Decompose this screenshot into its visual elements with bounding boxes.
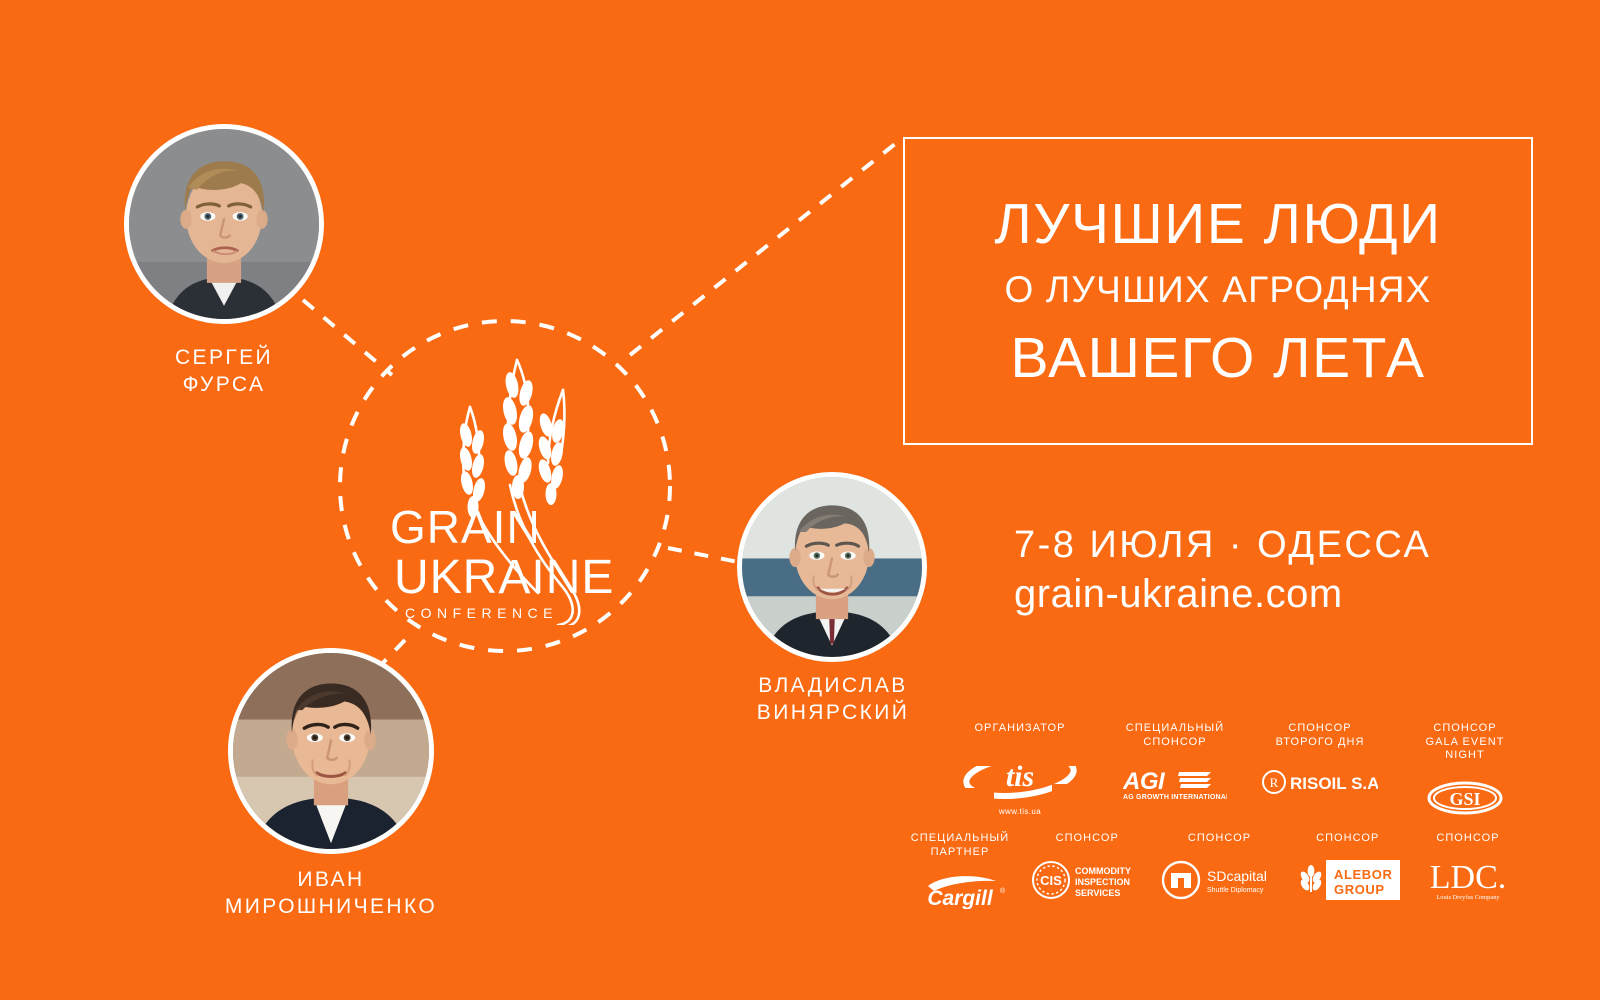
cis-logo: CIS COMMODITY INSPECTION SERVICES — [1031, 860, 1143, 900]
svg-text:AG GROWTH INTERNATIONAL: AG GROWTH INTERNATIONAL — [1123, 794, 1227, 801]
svg-text:CIS: CIS — [1040, 873, 1062, 888]
svg-text:AGI: AGI — [1123, 768, 1166, 795]
svg-text:R: R — [1270, 775, 1279, 790]
svg-text:RISOIL S.A.: RISOIL S.A. — [1290, 774, 1378, 793]
speaker-name-sergey: СЕРГЕЙ ФУРСА — [94, 344, 354, 398]
svg-text:Cargill: Cargill — [927, 887, 994, 909]
logo-line1: GRAIN — [390, 501, 541, 553]
event-date-place: 7-8 ИЮЛЯ · ОДЕССА — [1014, 522, 1431, 568]
sponsor-sdcapital: СПОНСОР SDcapital Shuttle Diplomacy — [1160, 832, 1280, 900]
headline-box: ЛУЧШИЕ ЛЮДИ О ЛУЧШИХ АГРОДНЯХ ВАШЕГО ЛЕТ… — [903, 137, 1533, 445]
speaker-photo-ivan — [228, 648, 434, 854]
logo-line3: CONFERENCE — [405, 605, 558, 621]
speaker-photo-vladislav — [737, 472, 927, 662]
svg-text:ALEBOR: ALEBOR — [1334, 867, 1393, 882]
connector-headline — [630, 140, 900, 355]
gsi-logo: GSI — [1427, 781, 1503, 815]
poster-canvas: GRAIN UKRAINE CONFERENCE — [0, 0, 1600, 1000]
cargill-logo: Cargill ® — [912, 873, 1008, 909]
sponsor-agi: СПЕЦИАЛЬНЫЙ СПОНСОР AGI AG GROWTH INTERN… — [1120, 722, 1230, 801]
ldc-logo: LDC. Louis Dreyfus Company — [1418, 858, 1518, 902]
sponsor-risoil: СПОНСОР ВТОРОГО ДНЯ R RISOIL S.A. — [1260, 722, 1380, 795]
sponsor-row-secondary: СПЕЦИАЛЬНЫЙ ПАРТНЕР Cargill ® СПОНСОР CI… — [905, 832, 1520, 909]
tis-url: www.tis.ua — [999, 807, 1041, 816]
sponsor-tis-label: ОРГАНИЗАТОР — [974, 722, 1065, 736]
sponsor-risoil-label: СПОНСОР ВТОРОГО ДНЯ — [1276, 722, 1365, 749]
speaker-name-vladislav: ВЛАДИСЛАВ ВИНЯРСКИЙ — [702, 672, 964, 726]
grain-ukraine-logo: GRAIN UKRAINE CONFERENCE — [380, 335, 630, 625]
speaker-name-ivan: ИВАН МИРОШНИЧЕНКО — [201, 866, 461, 920]
svg-text:INSPECTION: INSPECTION — [1075, 877, 1130, 887]
agi-logo: AGI AG GROWTH INTERNATIONAL — [1123, 767, 1227, 801]
sponsor-gsi: СПОНСОР GALA EVENT NIGHT GSI — [1410, 722, 1520, 815]
sponsor-agi-label: СПЕЦИАЛЬНЫЙ СПОНСОР — [1126, 722, 1224, 749]
svg-text:tis: tis — [1006, 760, 1034, 793]
speaker-photo-sergey — [124, 124, 324, 324]
sponsor-alebor: СПОНСОР ALEBOR GROUP — [1294, 832, 1402, 900]
alebor-logo: ALEBOR GROUP — [1296, 860, 1400, 900]
sponsor-tis: ОРГАНИЗАТОР tis www.tis.ua — [950, 722, 1090, 816]
svg-text:SDcapital: SDcapital — [1207, 868, 1267, 884]
svg-text:Louis Dreyfus Company: Louis Dreyfus Company — [1436, 894, 1500, 901]
sponsor-ldc: СПОНСОР LDC. Louis Dreyfus Company — [1416, 832, 1520, 902]
headline-line-3: ВАШЕГО ЛЕТА — [1010, 327, 1425, 389]
sponsor-cargill: СПЕЦИАЛЬНЫЙ ПАРТНЕР Cargill ® — [905, 832, 1015, 909]
svg-text:GROUP: GROUP — [1334, 882, 1385, 897]
event-website[interactable]: grain-ukraine.com — [1014, 570, 1343, 618]
risoil-logo: R RISOIL S.A. — [1262, 769, 1378, 795]
tis-logo: tis — [960, 744, 1080, 804]
sponsor-sdcapital-label: СПОНСОР — [1188, 832, 1251, 846]
logo-line2: UKRAINE — [394, 551, 614, 604]
svg-text:GSI: GSI — [1449, 789, 1480, 809]
sponsor-cis: СПОНСОР CIS COMMODITY INSPECTION SERVICE… — [1029, 832, 1145, 900]
sponsor-cargill-label: СПЕЦИАЛЬНЫЙ ПАРТНЕР — [911, 832, 1009, 859]
sponsor-ldc-label: СПОНСОР — [1436, 832, 1499, 846]
svg-text:SERVICES: SERVICES — [1075, 888, 1120, 898]
headline-line-2: О ЛУЧШИХ АГРОДНЯХ — [1004, 269, 1431, 311]
connector-vladislav — [668, 548, 738, 562]
sponsor-row-primary: ОРГАНИЗАТОР tis www.tis.ua СПЕЦИАЛЬНЫЙ С… — [950, 722, 1520, 816]
sdcapital-logo: SDcapital Shuttle Diplomacy — [1161, 860, 1279, 900]
sponsor-alebor-label: СПОНСОР — [1316, 832, 1379, 846]
svg-text:®: ® — [1000, 887, 1006, 895]
svg-text:LDC.: LDC. — [1430, 859, 1507, 896]
sponsor-cis-label: СПОНСОР — [1056, 832, 1119, 846]
svg-text:COMMODITY: COMMODITY — [1075, 866, 1131, 876]
svg-text:Shuttle Diplomacy: Shuttle Diplomacy — [1207, 887, 1264, 894]
headline-line-1: ЛУЧШИЕ ЛЮДИ — [994, 193, 1441, 255]
sponsor-gsi-label: СПОНСОР GALA EVENT NIGHT — [1410, 722, 1520, 763]
